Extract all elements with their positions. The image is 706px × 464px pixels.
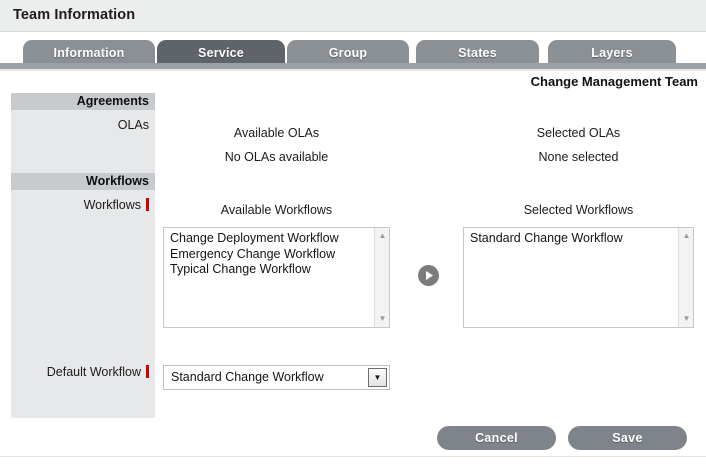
field-label-olas: OLAs <box>11 118 155 132</box>
list-item[interactable]: Change Deployment Workflow <box>170 231 373 247</box>
available-workflows-listbox[interactable]: Change Deployment Workflow Emergency Cha… <box>163 227 390 328</box>
list-item[interactable]: Standard Change Workflow <box>470 231 677 247</box>
scroll-up-icon[interactable]: ▲ <box>679 230 694 242</box>
field-label-column: Agreements OLAs Workflows Workflows Defa… <box>11 93 155 418</box>
chevron-down-icon[interactable]: ▼ <box>368 368 387 387</box>
list-item[interactable]: Typical Change Workflow <box>170 262 373 278</box>
available-workflows-scrollbar[interactable]: ▲ ▼ <box>374 228 389 327</box>
section-header-workflows: Workflows <box>11 173 155 190</box>
window-title-bar: Team Information <box>0 0 706 32</box>
scroll-up-icon[interactable]: ▲ <box>375 230 390 242</box>
available-workflows-header: Available Workflows <box>163 203 390 217</box>
save-button[interactable]: Save <box>568 426 687 450</box>
available-olas-value: No OLAs available <box>163 150 390 164</box>
section-header-agreements: Agreements <box>11 93 155 110</box>
selected-workflows-scrollbar[interactable]: ▲ ▼ <box>678 228 693 327</box>
available-olas-header: Available OLAs <box>163 126 390 140</box>
available-workflows-items: Change Deployment Workflow Emergency Cha… <box>164 231 373 278</box>
footer-divider <box>0 456 706 457</box>
required-marker-default-workflow <box>146 365 149 378</box>
page-title: Change Management Team <box>531 74 698 89</box>
selected-olas-value: None selected <box>463 150 694 164</box>
window-title: Team Information <box>13 7 135 23</box>
selected-workflows-header: Selected Workflows <box>463 203 694 217</box>
selected-workflows-items: Standard Change Workflow <box>464 231 677 247</box>
cancel-button[interactable]: Cancel <box>437 426 556 450</box>
default-workflow-select[interactable]: Standard Change Workflow ▼ <box>163 365 390 390</box>
field-label-workflows: Workflows <box>11 198 155 212</box>
default-workflow-value: Standard Change Workflow <box>171 370 324 384</box>
field-label-default-workflow-text: Default Workflow <box>47 365 141 379</box>
field-label-workflows-text: Workflows <box>84 198 141 212</box>
selected-workflows-listbox[interactable]: Standard Change Workflow ▲ ▼ <box>463 227 694 328</box>
list-item[interactable]: Emergency Change Workflow <box>170 247 373 263</box>
scroll-down-icon[interactable]: ▼ <box>375 313 390 325</box>
scroll-down-icon[interactable]: ▼ <box>679 313 694 325</box>
play-right-icon <box>418 265 439 286</box>
field-label-default-workflow: Default Workflow <box>11 365 155 379</box>
selected-olas-header: Selected OLAs <box>463 126 694 140</box>
required-marker-workflows <box>146 198 149 211</box>
move-workflow-right-button[interactable] <box>418 265 439 286</box>
tab-underline-shadow <box>0 69 706 71</box>
